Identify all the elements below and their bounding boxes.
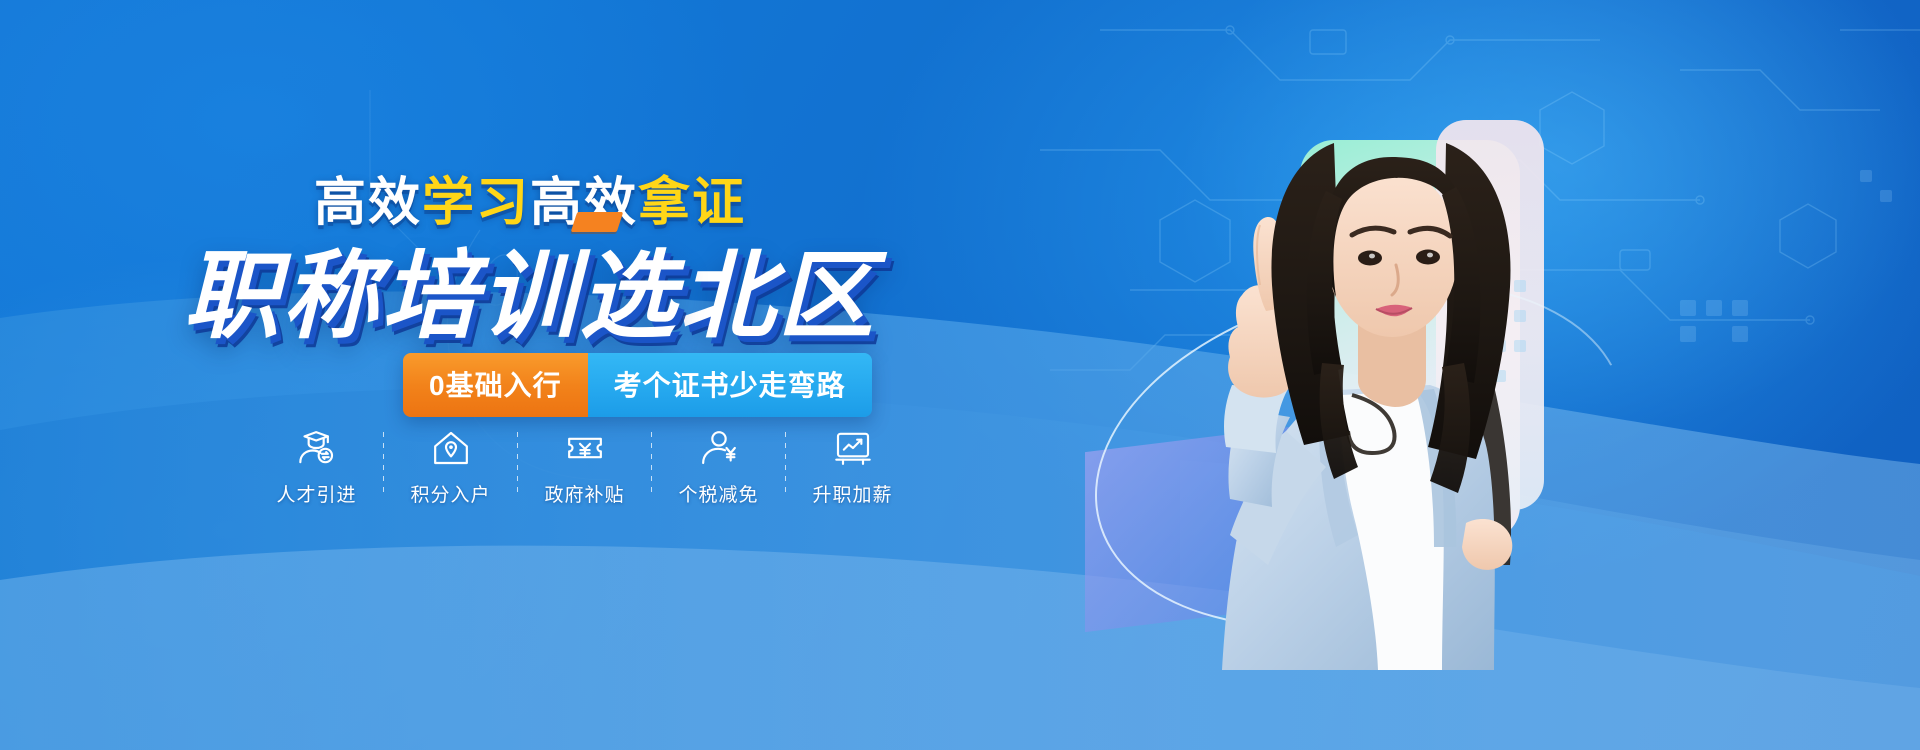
feature-item-promotion-raise[interactable]: 升职加薪 <box>786 428 919 507</box>
promo-banner: 2 39 <box>0 0 1920 750</box>
tagline-pill: 0基础入行 考个证书少走弯路 <box>403 353 872 417</box>
banner-content: 高效学习高效拿证 职称培训选北区 0基础入行 考个证书少走弯路 人才引进 <box>0 0 1060 750</box>
main-title-after: 北区 <box>679 243 877 350</box>
feature-item-points-residency[interactable]: 积分入户 <box>384 428 517 507</box>
main-title-accent-char: 选 <box>580 243 679 350</box>
person-yuan-icon <box>699 428 739 468</box>
feature-item-government-subsidy[interactable]: 政府补贴 <box>518 428 651 507</box>
feature-list: 人才引进 积分入户 政府补贴 <box>250 428 919 507</box>
graduate-person-icon <box>297 428 337 468</box>
house-pin-icon <box>431 428 471 468</box>
feature-label: 人才引进 <box>276 480 356 507</box>
pill-left-label: 0基础入行 <box>403 353 588 417</box>
main-title-accent-wrap: 选 <box>580 218 679 357</box>
feature-item-talent-introduction[interactable]: 人才引进 <box>250 428 383 507</box>
feature-label: 政府补贴 <box>544 480 624 507</box>
ticket-yuan-icon <box>565 428 605 468</box>
feature-item-tax-reduction[interactable]: 个税减免 <box>652 428 785 507</box>
chart-board-icon <box>833 428 873 468</box>
main-title-before: 职称培训 <box>184 243 580 350</box>
main-title: 职称培训选北区 <box>0 218 1060 357</box>
pill-right-label: 考个证书少走弯路 <box>588 353 872 417</box>
feature-label: 升职加薪 <box>812 480 892 507</box>
orange-accent-mark <box>570 212 622 232</box>
person-photo <box>1090 95 1650 670</box>
feature-label: 积分入户 <box>410 480 490 507</box>
feature-label: 个税减免 <box>678 480 758 507</box>
